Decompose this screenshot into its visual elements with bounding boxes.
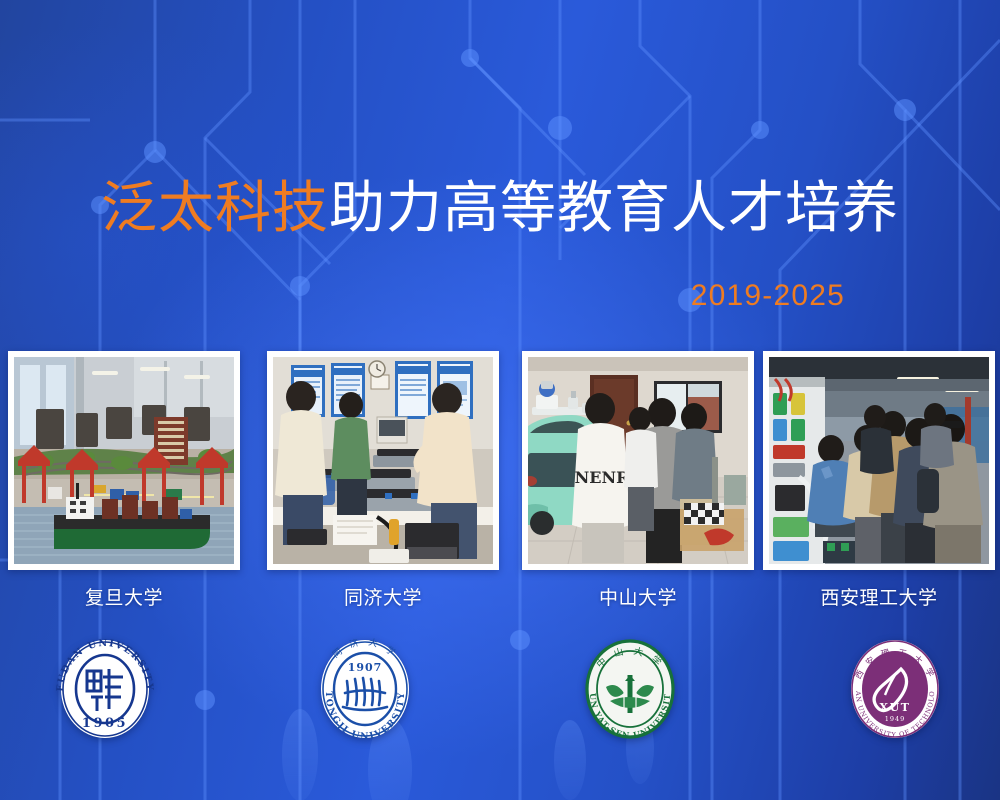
- svg-text:NENR: NENR: [575, 468, 630, 487]
- photo-gallery: NENR: [0, 351, 1000, 571]
- title-rest: 助力高等教育人才培养: [329, 176, 899, 241]
- photo-card-fudan[interactable]: [8, 351, 240, 570]
- poster-stage: 泛太科技助力高等教育人才培养 2019-2025: [0, 0, 1000, 800]
- photo-card-tongji[interactable]: [267, 351, 499, 570]
- svg-text:XUT: XUT: [879, 701, 910, 714]
- tongji-university-logo: 同 济 大 学 TONGJI UNIVERSITY 1907: [307, 631, 423, 747]
- fudan-university-logo: FUDAN UNIVERSITY 1905: [47, 631, 163, 747]
- sun-yat-sen-university-logo: 中 山 大 学 SUN YAT-SEN UNIVERSITY: [572, 631, 688, 747]
- photo-autonomous-vehicle: NENR: [528, 357, 748, 564]
- svg-text:1949: 1949: [885, 715, 906, 723]
- page-title: 泛太科技助力高等教育人才培养: [0, 176, 1000, 242]
- caption-tongji: 同济大学: [283, 583, 483, 610]
- date-range-subtitle: 2019-2025: [691, 279, 845, 313]
- photo-workshop-demo: [769, 357, 989, 564]
- caption-fudan: 复旦大学: [24, 583, 224, 610]
- caption-xut: 西安理工大学: [779, 583, 979, 610]
- caption-sysu: 中山大学: [538, 583, 738, 610]
- photo-card-xut[interactable]: [763, 351, 995, 570]
- svg-text:1905: 1905: [82, 716, 128, 731]
- xian-university-of-technology-logo: 西 安 理 工 大 学 XI'AN UNIVERSITY OF TECHNOLO…: [837, 631, 953, 747]
- photo-card-sysu[interactable]: NENR: [522, 351, 754, 570]
- photo-port-model: [14, 357, 234, 564]
- photo-lab-workbench: [273, 357, 493, 564]
- brand-name: 泛太科技: [101, 176, 329, 241]
- svg-text:1907: 1907: [348, 661, 383, 674]
